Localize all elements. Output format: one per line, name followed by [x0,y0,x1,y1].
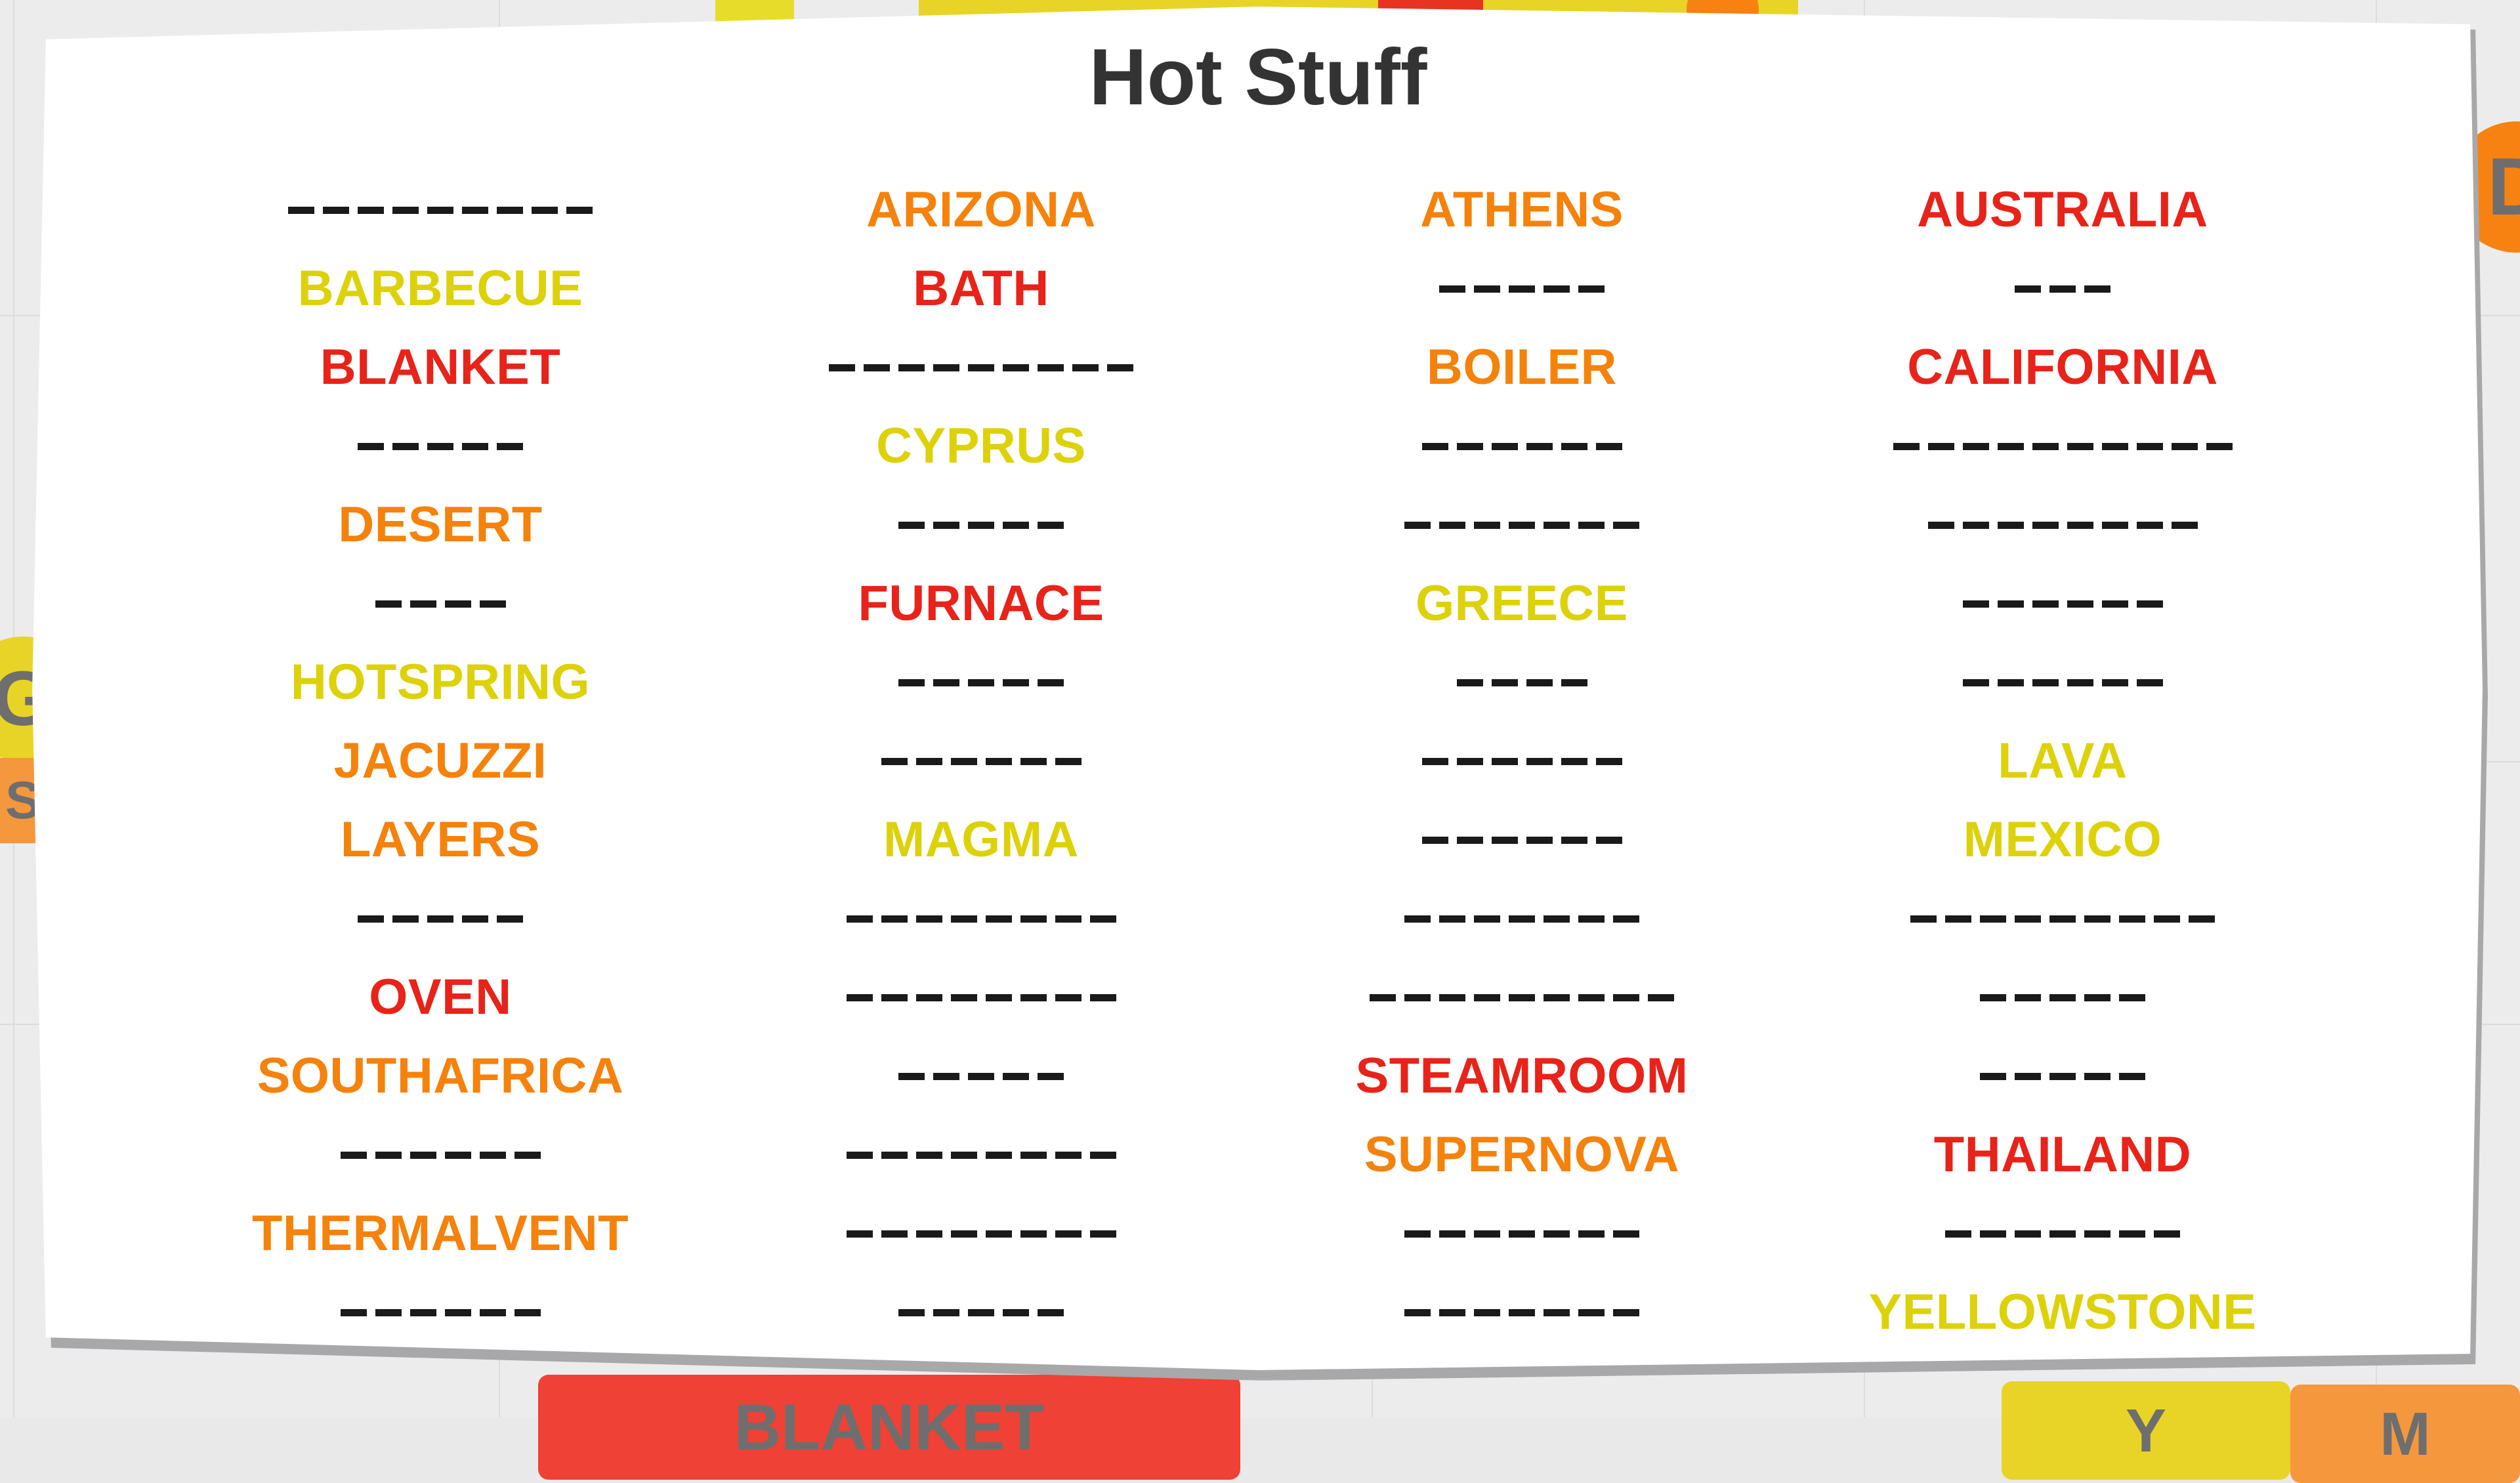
blank-dash [1578,994,1605,1001]
blank-dash [2049,1073,2076,1080]
blank-dash [898,364,925,371]
blank-row [1803,958,2322,1037]
blank-dash [1474,915,1500,923]
peek-bottom-orange-bar: M [2290,1385,2520,1483]
found-word[interactable]: MEXICO [1963,815,2162,865]
blank-dash [2137,600,2163,608]
blank-row [181,1273,700,1352]
hidden-word-blank [2015,285,2110,293]
hidden-word-blank [1404,522,1639,529]
blank-dash [898,679,925,686]
blank-dash [1928,443,1954,450]
word-row: HOTSPRING [181,643,700,722]
blank-dash [1474,522,1500,529]
blank-dash [1613,1309,1639,1316]
blank-dash [1439,285,1465,293]
hidden-word-blank [847,994,1116,1001]
blank-dash [898,1073,925,1080]
blank-dash [1543,1230,1570,1238]
blank-dash [2137,679,2163,686]
found-word[interactable]: GREECE [1416,579,1628,629]
found-word[interactable]: CALIFORNIA [1907,343,2218,392]
blank-dash [933,522,959,529]
blank-dash [933,1073,959,1080]
blank-dash [2067,522,2093,529]
blank-dash [1055,758,1081,765]
word-row: BOILER [1263,328,1781,407]
blank-dash [1543,285,1570,293]
blank-dash [341,1309,367,1316]
blank-dash [2049,915,2076,923]
column-2: ARIZONABATHCYPRUSFURNACEMAGMA [722,171,1240,1352]
blank-dash [2032,679,2059,686]
blank-row [1263,722,1781,801]
hidden-word-blank [881,758,1081,765]
blank-row [1263,407,1781,486]
blank-dash [427,443,453,450]
blank-dash [2119,1073,2145,1080]
blank-dash [847,915,873,923]
word-row: AUSTRALIA [1803,171,2322,249]
blank-dash [1422,443,1448,450]
blank-dash [1107,364,1133,371]
blank-dash [1613,522,1639,529]
blank-row [722,1273,1240,1352]
blank-dash [1980,1230,2006,1238]
peek-bottom-yellow-bar: Y [2002,1381,2290,1480]
blank-dash [392,207,419,214]
blank-dash [1038,522,1064,529]
blank-row [722,328,1240,407]
blank-dash [2067,679,2093,686]
blank-dash [1457,679,1483,686]
blank-row [1803,486,2322,564]
hidden-word-blank [1893,443,2233,450]
blank-dash [1945,915,1971,923]
column-3: ATHENSBOILERGREECESTEAMROOMSUPERNOVA [1263,171,1781,1352]
column-4: AUSTRALIACALIFORNIALAVAMEXICOTHAILANDYEL… [1803,171,2322,1352]
blank-dash [2172,443,2198,450]
found-word[interactable]: THAILAND [1934,1130,2191,1180]
blank-dash [986,994,1012,1001]
found-word[interactable]: LAYERS [341,815,540,865]
blank-row [722,643,1240,722]
found-word[interactable]: JACUZZI [334,736,547,786]
blank-dash [1020,1152,1047,1159]
blank-dash [847,1152,873,1159]
blank-dash [1404,994,1431,1001]
found-word[interactable]: ARIZONA [866,185,1096,235]
blank-dash [1422,837,1448,844]
blank-dash [1404,1309,1431,1316]
blank-dash [1578,1230,1605,1238]
blank-row [1263,958,1781,1037]
blank-dash [2015,1230,2041,1238]
hidden-word-blank [847,1230,1116,1238]
blank-dash [532,207,558,214]
blank-dash [986,1230,1012,1238]
word-row: CYPRUS [722,407,1240,486]
blank-dash [1980,994,2006,1001]
blank-dash [514,1309,541,1316]
blank-dash [1509,994,1535,1001]
blank-dash [2084,1073,2110,1080]
found-word[interactable]: BLANKET [320,343,561,392]
blank-dash [986,758,1012,765]
blank-row [1803,643,2322,722]
blank-dash [968,364,994,371]
blank-dash [1526,679,1553,686]
hidden-word-blank [898,522,1064,529]
word-row: MEXICO [1803,801,2322,879]
blank-dash [881,1152,908,1159]
blank-dash [2154,915,2180,923]
blank-dash [1561,758,1587,765]
hidden-word-blank [1422,837,1622,844]
blank-row [181,171,700,249]
blank-dash [445,600,471,608]
blank-row [722,1194,1240,1273]
blank-dash [1474,285,1500,293]
blank-dash [2049,994,2076,1001]
hidden-word-blank [898,1309,1064,1316]
hidden-word-blank [341,1152,541,1159]
blank-row [1263,249,1781,328]
word-row: LAVA [1803,722,2322,801]
blank-row [181,879,700,958]
blank-dash [933,1309,959,1316]
found-word[interactable]: BATH [913,264,1049,314]
blank-dash [323,207,349,214]
found-word[interactable]: MAGMA [883,815,1079,865]
blank-dash [1090,915,1116,923]
blank-dash [1509,1309,1535,1316]
blank-dash [1893,443,1920,450]
blank-dash [2084,1230,2110,1238]
page-title: Hot Stuff [24,37,2492,117]
found-word[interactable]: SUPERNOVA [1364,1130,1679,1180]
blank-dash [1509,915,1535,923]
blank-dash [1090,994,1116,1001]
blank-dash [968,522,994,529]
word-row: DESERT [181,486,700,564]
blank-dash [341,1152,367,1159]
hidden-word-blank [1963,679,2163,686]
blank-dash [1543,522,1570,529]
blank-dash [2102,679,2128,686]
blank-dash [1439,915,1465,923]
found-word[interactable]: LAVA [1998,736,2128,786]
blank-dash [881,1230,908,1238]
blank-dash [2015,994,2041,1001]
blank-dash [497,443,523,450]
blank-dash [1543,1309,1570,1316]
blank-dash [1492,837,1518,844]
blank-dash [1474,994,1500,1001]
blank-dash [1072,364,1099,371]
blank-dash [410,600,436,608]
blank-dash [1998,522,2024,529]
blank-dash [480,1152,506,1159]
blank-row [722,1116,1240,1194]
blank-dash [1422,758,1448,765]
hidden-word-blank [341,1309,541,1316]
hidden-word-blank [898,679,1064,686]
blank-dash [951,758,977,765]
blank-dash [375,1152,402,1159]
hidden-word-blank [1457,679,1587,686]
blank-dash [1020,915,1047,923]
blank-dash [1980,915,2006,923]
blank-dash [2067,600,2093,608]
blank-dash [1370,994,1396,1001]
hidden-word-blank [288,207,593,214]
blank-dash [1038,1309,1064,1316]
blank-dash [1945,1230,1971,1238]
blank-dash [462,443,488,450]
hidden-word-blank [1422,443,1622,450]
blank-dash [1003,679,1029,686]
blank-dash [1457,758,1483,765]
found-word[interactable]: FURNACE [858,579,1104,629]
word-row: BLANKET [181,328,700,407]
hidden-word-blank [1963,600,2163,608]
blank-dash [1439,994,1465,1001]
blank-dash [1998,443,2024,450]
blank-dash [288,207,314,214]
blank-dash [2102,443,2128,450]
blank-dash [2084,994,2110,1001]
hidden-word-blank [1945,1230,2180,1238]
word-row: SUPERNOVA [1263,1116,1781,1194]
blank-row [1803,407,2322,486]
blank-row [1803,1194,2322,1273]
blank-dash [2119,994,2145,1001]
hidden-word-blank [1439,285,1605,293]
hidden-word-blank [1370,994,1674,1001]
blank-dash [1509,1230,1535,1238]
blank-dash [951,994,977,1001]
found-word[interactable]: SOUTHAFRICA [257,1051,624,1101]
blank-dash [1457,837,1483,844]
blank-dash [1003,1073,1029,1080]
blank-dash [1543,915,1570,923]
found-word[interactable]: ATHENS [1420,185,1624,235]
blank-dash [933,364,959,371]
blank-dash [2049,1230,2076,1238]
hidden-word-blank [358,915,523,923]
blank-dash [1543,994,1570,1001]
blank-dash [1439,1309,1465,1316]
blank-dash [427,207,453,214]
blank-row [1263,1194,1781,1273]
hidden-word-blank [1980,1073,2145,1080]
blank-dash [2032,600,2059,608]
blank-row [722,958,1240,1037]
found-word[interactable]: CYPRUS [876,421,1086,471]
blank-dash [375,1309,402,1316]
hidden-word-blank [1404,1230,1639,1238]
blank-row [722,879,1240,958]
blank-dash [1020,994,1047,1001]
blank-dash [358,915,384,923]
blank-dash [1055,915,1081,923]
blank-dash [1003,1309,1029,1316]
blank-dash [1963,600,1989,608]
blank-dash [1998,600,2024,608]
blank-dash [916,758,942,765]
blank-dash [1090,1152,1116,1159]
blank-row [1803,879,2322,958]
blank-dash [1509,522,1535,529]
found-word[interactable]: HOTSPRING [291,658,590,707]
blank-row [722,486,1240,564]
word-row: MAGMA [722,801,1240,879]
blank-dash [514,1152,541,1159]
blank-dash [410,1152,436,1159]
blank-dash [375,600,402,608]
blank-row [1803,564,2322,643]
blank-dash [1038,1073,1064,1080]
blank-dash [1578,522,1605,529]
blank-dash [898,522,925,529]
found-word[interactable]: BARBECUE [298,264,583,314]
blank-dash [916,994,942,1001]
blank-dash [2137,522,2163,529]
word-row: LAYERS [181,801,700,879]
blank-dash [1038,364,1064,371]
blank-dash [898,1309,925,1316]
column-1: BARBECUEBLANKETDESERTHOTSPRINGJACUZZILAY… [181,171,700,1352]
word-row: GREECE [1263,564,1781,643]
blank-dash [445,1152,471,1159]
blank-dash [1038,679,1064,686]
found-word[interactable]: AUSTRALIA [1917,185,2208,235]
blank-dash [462,915,488,923]
blank-dash [2084,915,2110,923]
blank-dash [1578,1309,1605,1316]
blank-dash [951,1152,977,1159]
blank-dash [1526,758,1553,765]
blank-dash [1020,1230,1047,1238]
blank-dash [2015,915,2041,923]
blank-dash [1980,1073,2006,1080]
found-word[interactable]: BOILER [1427,343,1617,392]
word-row: CALIFORNIA [1803,328,2322,407]
found-word[interactable]: OVEN [369,972,511,1022]
word-row: OVEN [181,958,700,1037]
word-row: BATH [722,249,1240,328]
blank-dash [2015,285,2041,293]
peek-bottom-red-bar: BLANKET [538,1375,1240,1480]
blank-dash [881,758,908,765]
blank-dash [968,1073,994,1080]
blank-dash [410,1309,436,1316]
hidden-word-blank [1980,994,2145,1001]
blank-dash [1613,994,1639,1001]
blank-dash [1526,443,1553,450]
blank-dash [951,1230,977,1238]
blank-dash [1613,1230,1639,1238]
blank-dash [1998,679,2024,686]
word-row: ATHENS [1263,171,1781,249]
blank-row [1263,879,1781,958]
found-word[interactable]: THERMALVENT [252,1209,629,1259]
hidden-word-blank [358,443,523,450]
blank-dash [1963,443,1989,450]
blank-dash [462,207,488,214]
blank-dash [1561,679,1587,686]
blank-dash [916,1230,942,1238]
blank-dash [392,443,419,450]
blank-row [181,564,700,643]
blank-dash [497,915,523,923]
blank-dash [2049,285,2076,293]
hidden-word-blank [847,915,1116,923]
blank-dash [358,443,384,450]
blank-dash [1928,522,1954,529]
hidden-word-blank [847,1152,1116,1159]
blank-dash [1509,285,1535,293]
blank-row [1263,486,1781,564]
blank-dash [2032,522,2059,529]
word-row: THERMALVENT [181,1194,700,1273]
blank-dash [1404,915,1431,923]
blank-dash [1003,522,1029,529]
blank-dash [2015,1073,2041,1080]
blank-dash [1055,1230,1081,1238]
blank-row [1803,1037,2322,1116]
hidden-word-blank [1928,522,2198,529]
blank-dash [1055,994,1081,1001]
blank-dash [2032,443,2059,450]
word-row: STEAMROOM [1263,1037,1781,1116]
blank-dash [1492,443,1518,450]
blank-dash [968,1309,994,1316]
blank-dash [358,207,384,214]
blank-dash [1613,915,1639,923]
blank-dash [1474,1309,1500,1316]
found-word[interactable]: STEAMROOM [1356,1051,1689,1101]
blank-dash [2154,1230,2180,1238]
word-row: FURNACE [722,564,1240,643]
blank-dash [1561,443,1587,450]
blank-row [1263,801,1781,879]
blank-dash [497,207,523,214]
blank-dash [2189,915,2215,923]
blank-dash [1526,837,1553,844]
word-row: YELLOWSTONE [1803,1273,2322,1352]
blank-dash [1578,285,1605,293]
hidden-word-blank [375,600,506,608]
blank-dash [968,679,994,686]
found-word[interactable]: YELLOWSTONE [1868,1287,2256,1337]
blank-dash [916,915,942,923]
blank-dash [1090,1230,1116,1238]
blank-dash [2137,443,2163,450]
blank-dash [1020,758,1047,765]
word-row: BARBECUE [181,249,700,328]
blank-dash [427,915,453,923]
hidden-word-blank [1422,758,1622,765]
word-row: JACUZZI [181,722,700,801]
blank-dash [1457,443,1483,450]
blank-dash [1439,522,1465,529]
blank-dash [1474,1230,1500,1238]
found-word[interactable]: DESERT [338,500,542,550]
hidden-word-blank [1910,915,2215,923]
blank-dash [1578,915,1605,923]
